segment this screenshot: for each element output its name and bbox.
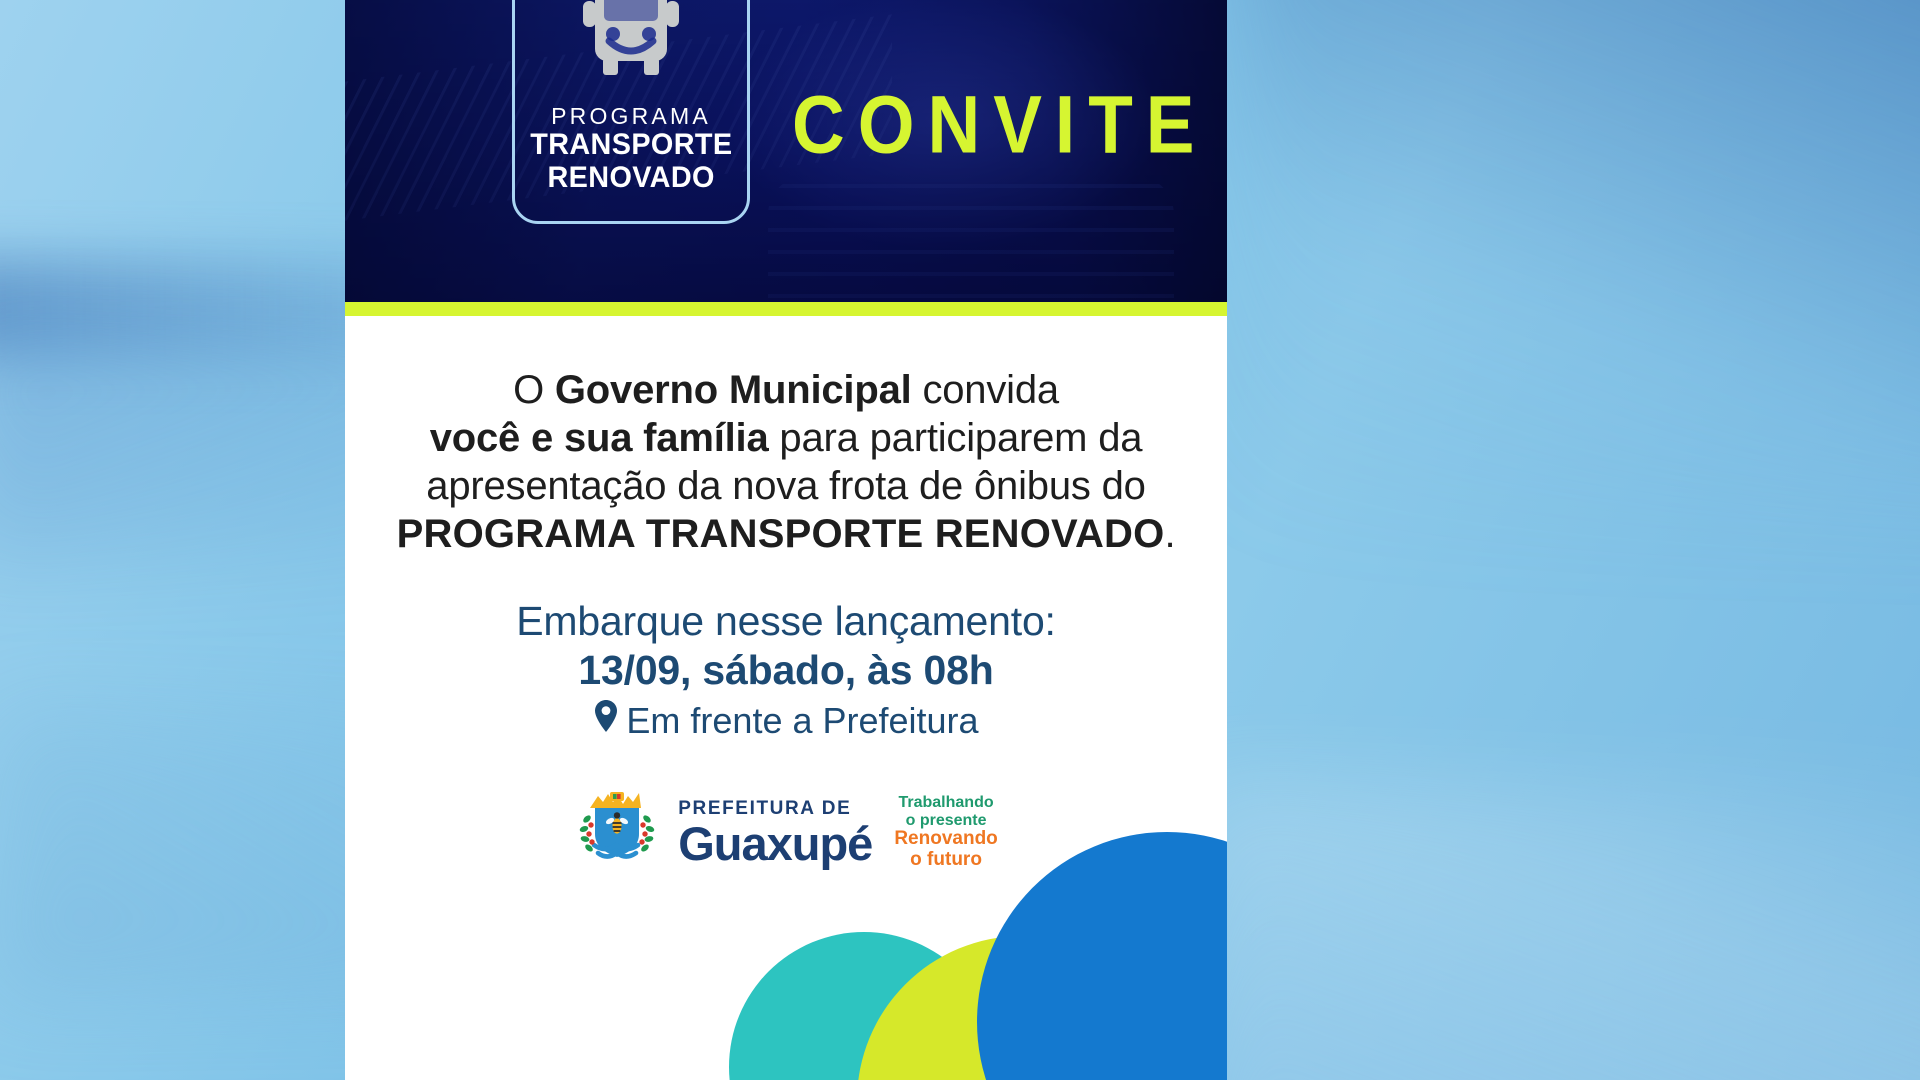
event-location: Em frente a Prefeitura — [383, 698, 1189, 745]
lime-divider-rule — [345, 302, 1227, 316]
invitation-paragraph: O Governo Municipal convida você e sua f… — [383, 366, 1189, 558]
poster-header: PROGRAMA TRANSPORTE RENOVADO CONVITE — [345, 0, 1227, 302]
brand-kicker: PREFEITURA DE — [678, 799, 851, 818]
brand-tagline: Trabalhando o presente Renovando o futur… — [894, 794, 997, 871]
brand-wordmark: PREFEITURA DE Guaxupé — [678, 799, 872, 867]
line4-period: . — [1164, 512, 1175, 556]
prefeitura-logo-lockup: PREFEITURA DE Guaxupé Trabalhando o pres… — [383, 789, 1189, 876]
convite-headline: CONVITE — [792, 84, 1207, 166]
cta-title: Embarque nesse lançamento: — [383, 598, 1189, 645]
tagline-green-line1: Trabalhando — [894, 794, 997, 812]
paragraph-line-4: PROGRAMA TRANSPORTE RENOVADO. — [383, 510, 1189, 558]
program-name-caps: PROGRAMA TRANSPORTE RENOVADO — [397, 512, 1165, 556]
tagline-orange-line1: Renovando — [894, 829, 997, 850]
line2-bold: você e sua família — [430, 416, 769, 460]
event-details: Embarque nesse lançamento: 13/09, sábado… — [383, 598, 1189, 745]
backdrop-streak-c — [1229, 0, 1920, 518]
line2-suffix: para participarem da — [769, 416, 1143, 460]
backdrop-streak-d — [1190, 778, 1920, 1080]
program-badge: PROGRAMA TRANSPORTE RENOVADO — [512, 0, 750, 224]
program-kicker: PROGRAMA — [551, 105, 711, 128]
event-location-text: Em frente a Prefeitura — [626, 698, 978, 745]
line1-prefix: O — [513, 368, 555, 412]
program-title-line2: RENOVADO — [547, 161, 714, 195]
paragraph-line-1: O Governo Municipal convida — [383, 366, 1189, 414]
poster-body: O Governo Municipal convida você e sua f… — [345, 316, 1227, 876]
brand-city-name: Guaxupé — [678, 820, 872, 867]
paragraph-line-3: apresentação da nova frota de ônibus do — [383, 462, 1189, 510]
program-title-line1: TRANSPORTE — [530, 128, 732, 162]
guaxupe-coat-of-arms-icon — [574, 789, 660, 876]
line1-suffix: convida — [912, 368, 1059, 412]
map-pin-icon — [593, 698, 619, 745]
tagline-green-line2: o presente — [894, 812, 997, 830]
line1-bold: Governo Municipal — [555, 368, 912, 412]
deco-circle-teal — [729, 932, 999, 1080]
deco-circle-lime — [857, 936, 1187, 1080]
invitation-poster: PROGRAMA TRANSPORTE RENOVADO CONVITE O G… — [345, 0, 1227, 1080]
paragraph-line-2: você e sua família para participarem da — [383, 414, 1189, 462]
bus-icon — [577, 0, 685, 89]
tagline-orange-line2: o futuro — [894, 850, 997, 871]
event-date: 13/09, sábado, às 08h — [383, 645, 1189, 696]
deco-circle-orange — [979, 862, 1227, 1080]
